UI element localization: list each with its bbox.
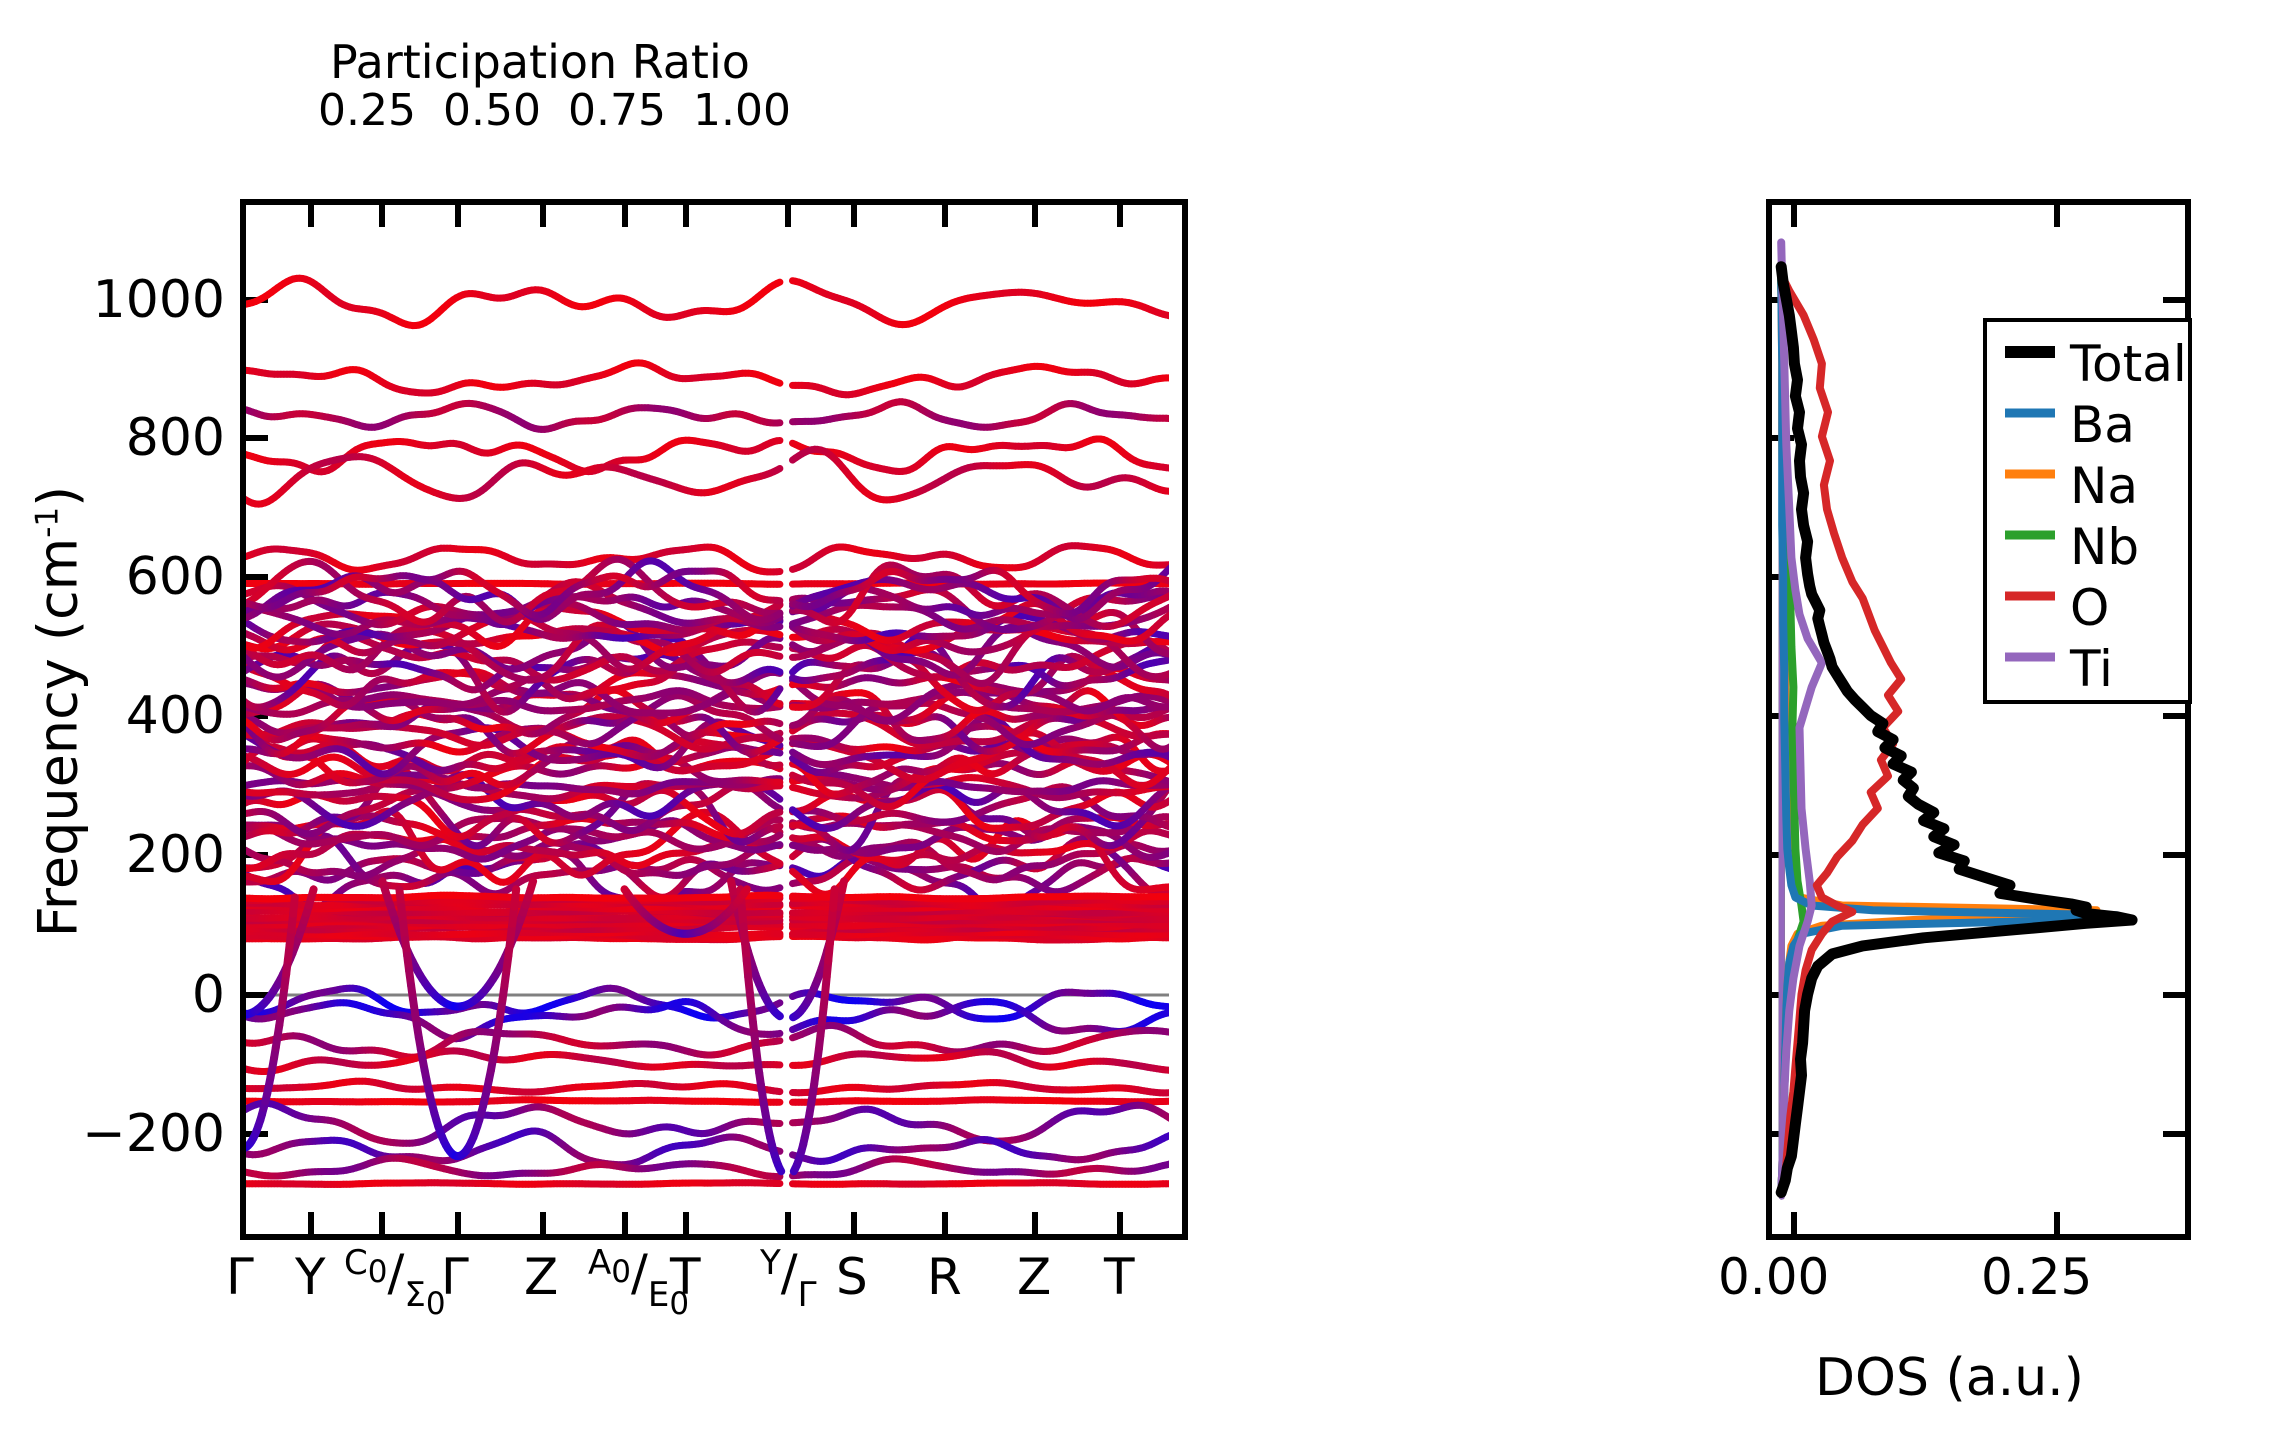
band-segment: [777, 845, 780, 846]
band-segment: [777, 469, 780, 471]
figure-canvas: [0, 0, 2271, 1455]
band-segment: [777, 382, 780, 383]
band-segment: [777, 888, 780, 889]
band-segment: [777, 835, 780, 837]
band-segment: [777, 862, 780, 864]
band-segment: [777, 826, 780, 827]
figure-root: Participation Ratio 0.25 0.50 0.75 1.00: [0, 0, 2271, 1455]
band-segment: [777, 282, 780, 283]
